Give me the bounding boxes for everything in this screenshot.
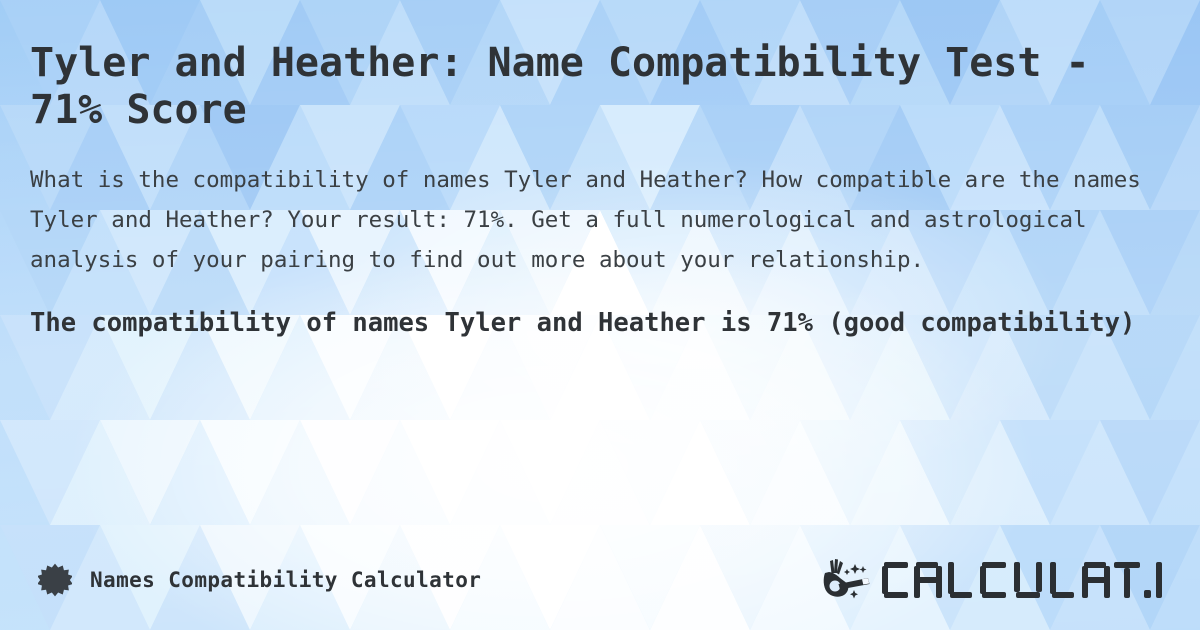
og-image-card: Tyler and Heather: Name Compatibility Te… [0,0,1200,630]
footer-brand[interactable]: Names Compatibility Calculator [38,563,481,597]
starburst-icon [38,563,72,597]
footer-brand-label: Names Compatibility Calculator [90,568,481,592]
page-title: Tyler and Heather: Name Compatibility Te… [30,40,1160,134]
description-paragraph: What is the compatibility of names Tyler… [30,160,1170,280]
footer-bar: Names Compatibility Calculator [0,538,1200,630]
site-logo[interactable] [818,558,1166,602]
magic-wand-hand-icon [818,558,876,602]
content-area: Tyler and Heather: Name Compatibility Te… [0,0,1200,630]
logo-wordmark [882,560,1166,600]
compatibility-result-text: The compatibility of names Tyler and Hea… [30,304,1170,343]
